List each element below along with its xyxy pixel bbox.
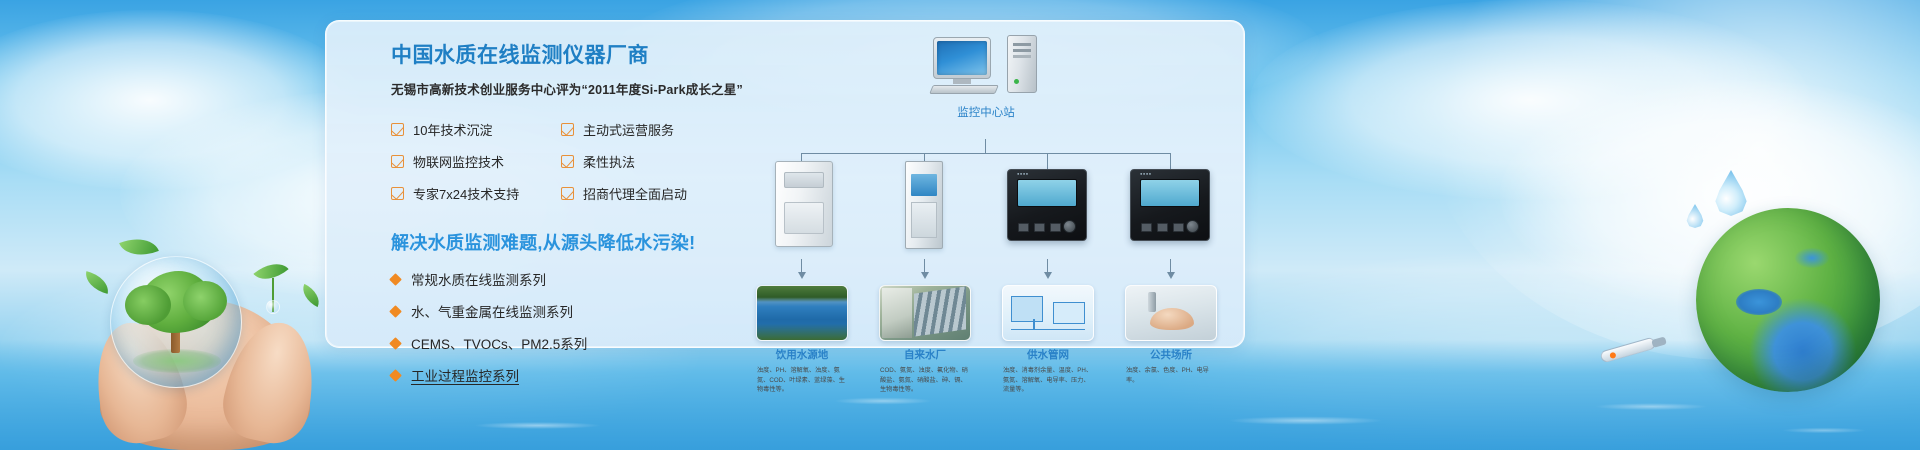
arrow-down-icon [1170, 259, 1171, 273]
controller-brand-label: ●●●● [1140, 171, 1152, 176]
checkbox-icon [561, 123, 574, 136]
checkbox-icon [561, 187, 574, 200]
online-analyzer-icon [905, 161, 943, 249]
application-title: 饮用水源地 [756, 347, 848, 362]
diamond-bullet-icon [389, 369, 402, 382]
feature-label: 招商代理全面启动 [583, 184, 687, 203]
arrow-connectors [756, 259, 1226, 281]
water-globe [110, 256, 242, 388]
hero-text-column: 中国水质在线监测仪器厂商 无锡市高新技术创业服务中心评为“2011年度Si-Pa… [391, 43, 751, 397]
list-item[interactable]: 常规水质在线监测系列 [391, 269, 751, 289]
probe-led [1609, 352, 1616, 359]
feature-label: 主动式运营服务 [583, 120, 674, 139]
application-title: 公共场所 [1125, 347, 1217, 362]
monitor-icon [933, 37, 991, 79]
computer-icon [931, 35, 1041, 97]
feature-list: 10年技术沉淀 主动式运营服务 物联网监控技术 柔性执法 专家7x24技术支持 … [391, 120, 751, 203]
controller-button [1141, 223, 1152, 232]
monitor-screen [937, 41, 987, 75]
water-plant-photo [879, 285, 971, 341]
hero-panel: 中国水质在线监测仪器厂商 无锡市高新技术创业服务中心评为“2011年度Si-Pa… [325, 20, 1245, 348]
water-droplet-icon [1686, 204, 1704, 228]
diamond-bullet-icon [389, 305, 402, 318]
monitoring-center-label: 监控中心站 [931, 104, 1041, 120]
device-controller-a[interactable]: ●●●● [999, 161, 1095, 241]
list-item-label: CEMS、TVOCs、PM2.5系列 [411, 333, 587, 353]
device-row: ●●●● ●●●● [756, 161, 1226, 261]
device-controller-b[interactable]: ●●●● [1122, 161, 1218, 241]
feature-item[interactable]: 10年技术沉淀 [391, 120, 561, 139]
faucet-photo [1125, 285, 1217, 341]
list-item-label[interactable]: 工业过程监控系列 [411, 365, 519, 385]
application-card[interactable]: 饮用水源地 浊度、PH、溶解氧、浊度、氨氮、COD、叶绿素、蓝绿藻、生物毒性等。 [756, 285, 848, 395]
leaf-icon [82, 271, 111, 294]
list-item[interactable]: 工业过程监控系列 [391, 365, 751, 385]
water-quality-cabinet-icon [775, 161, 833, 247]
feature-label: 10年技术沉淀 [413, 120, 492, 139]
controller-brand-label: ●●●● [1017, 171, 1029, 176]
controller-button [1157, 223, 1168, 232]
bubble [266, 300, 280, 314]
list-item[interactable]: 水、气重金属在线监测系列 [391, 301, 751, 321]
pipe-network-photo [1002, 285, 1094, 341]
controller-icon: ●●●● [1007, 169, 1087, 241]
leaf-icon [298, 284, 324, 307]
earth-globe-illustration [1590, 170, 1890, 410]
product-series-list: 常规水质在线监测系列 水、气重金属在线监测系列 CEMS、TVOCs、PM2.5… [391, 269, 751, 385]
device-analyzer[interactable] [876, 161, 972, 249]
controller-button [1034, 223, 1045, 232]
pc-tower-icon [1007, 35, 1037, 93]
application-desc: COD、氨氮、浊度、氟化物、硝酸盐、氨氮、硝酸盐、砷、镉、生物毒性等。 [879, 366, 971, 395]
feature-label: 柔性执法 [583, 152, 635, 171]
application-desc: 浊度、消毒剂余量、温度、PH、氨氮、溶解氧、电导率、压力、流量等。 [1002, 366, 1094, 395]
power-led [1014, 79, 1019, 84]
page-title: 中国水质在线监测仪器厂商 [391, 43, 751, 68]
list-item-label: 常规水质在线监测系列 [411, 269, 546, 289]
application-card[interactable]: 公共场所 浊度、余氯、色度、PH、电导率。 [1125, 285, 1217, 385]
diamond-bullet-icon [389, 337, 402, 350]
leaf-icon [119, 230, 159, 263]
keyboard-icon [929, 85, 999, 94]
arrow-down-icon [1047, 259, 1048, 273]
monitor-stand [953, 79, 971, 84]
sensor-probe-icon [1599, 337, 1656, 364]
application-card[interactable]: 供水管网 浊度、消毒剂余量、温度、PH、氨氮、溶解氧、电导率、压力、流量等。 [1002, 285, 1094, 395]
feature-label: 物联网监控技术 [413, 152, 504, 171]
tree-icon [139, 271, 215, 333]
application-desc: 浊度、PH、溶解氧、浊度、氨氮、COD、叶绿素、蓝绿藻、生物毒性等。 [756, 366, 848, 395]
feature-item[interactable]: 招商代理全面启动 [561, 184, 751, 203]
water-droplet-icon [1714, 170, 1748, 216]
grass-globe [1696, 208, 1880, 392]
checkbox-icon [391, 187, 404, 200]
river-photo [756, 285, 848, 341]
controller-button [1018, 223, 1029, 232]
controller-knob [1186, 220, 1199, 233]
list-item[interactable]: CEMS、TVOCs、PM2.5系列 [391, 333, 751, 353]
leaf-icon [253, 255, 288, 289]
checkbox-icon [561, 155, 574, 168]
connector-horizontal [801, 153, 1171, 154]
device-cabinet[interactable] [756, 161, 852, 247]
pipe-line [1011, 329, 1085, 331]
connector-vertical [985, 139, 986, 153]
application-title: 自来水厂 [879, 347, 971, 362]
feature-item[interactable]: 物联网监控技术 [391, 152, 561, 171]
arrow-down-icon [801, 259, 802, 273]
feature-item[interactable]: 主动式运营服务 [561, 120, 751, 139]
list-item-label: 水、气重金属在线监测系列 [411, 301, 573, 321]
controller-buttons [1018, 223, 1061, 232]
application-desc: 浊度、余氯、色度、PH、电导率。 [1125, 366, 1217, 385]
diamond-bullet-icon [389, 273, 402, 286]
monitoring-center-node[interactable]: 监控中心站 [931, 35, 1041, 120]
checkbox-icon [391, 155, 404, 168]
arrow-down-icon [924, 259, 925, 273]
controller-icon: ●●●● [1130, 169, 1210, 241]
hands-holding-tree-illustration [60, 150, 340, 450]
controller-button [1050, 223, 1061, 232]
section-heading: 解决水质监测难题,从源头降低水污染! [391, 229, 751, 255]
application-title: 供水管网 [1002, 347, 1094, 362]
checkbox-icon [391, 123, 404, 136]
feature-item[interactable]: 专家7x24技术支持 [391, 184, 561, 203]
feature-item[interactable]: 柔性执法 [561, 152, 751, 171]
controller-screen [1140, 179, 1200, 207]
application-card[interactable]: 自来水厂 COD、氨氮、浊度、氟化物、硝酸盐、氨氮、硝酸盐、砷、镉、生物毒性等。 [879, 285, 971, 395]
controller-buttons [1141, 223, 1184, 232]
controller-knob [1063, 220, 1076, 233]
controller-screen [1017, 179, 1077, 207]
feature-label: 专家7x24技术支持 [413, 184, 519, 203]
page-subtitle: 无锡市高新技术创业服务中心评为“2011年度Si-Park成长之星” [391, 79, 751, 98]
controller-button [1173, 223, 1184, 232]
system-diagram: 监控中心站 ●●●● [756, 31, 1226, 346]
